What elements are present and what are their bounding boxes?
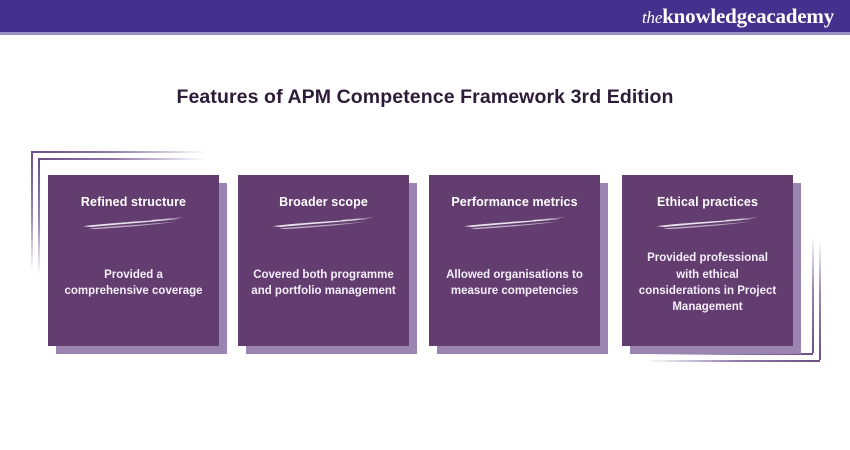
feature-card-title: Performance metrics [451,195,577,210]
feature-card[interactable]: Performance metrics Allowed organisation… [429,175,600,346]
feature-card-face[interactable]: Ethical practices Provided professional … [622,175,793,346]
feature-card-face[interactable]: Performance metrics Allowed organisation… [429,175,600,346]
brush-underline-icon [271,217,376,230]
feature-card-body: Allowed organisations to measure compete… [440,267,589,300]
feature-card[interactable]: Refined structure Provided a comprehensi… [48,175,219,346]
feature-card-body: Provided a comprehensive coverage [59,267,208,300]
feature-card[interactable]: Ethical practices Provided professional … [622,175,793,346]
feature-card-list: Refined structure Provided a comprehensi… [0,0,850,450]
feature-card-title: Broader scope [279,195,368,210]
feature-card-body: Covered both programme and portfolio man… [249,267,398,300]
feature-card-face[interactable]: Broader scope Covered both programme and… [238,175,409,346]
feature-card-title: Refined structure [81,195,186,210]
brush-underline-icon [655,217,760,230]
brush-underline-icon [462,217,567,230]
feature-card-face[interactable]: Refined structure Provided a comprehensi… [48,175,219,346]
feature-card-title: Ethical practices [657,195,758,210]
feature-card[interactable]: Broader scope Covered both programme and… [238,175,409,346]
brush-underline-icon [81,217,186,230]
feature-card-body: Provided professional with ethical consi… [633,250,782,315]
